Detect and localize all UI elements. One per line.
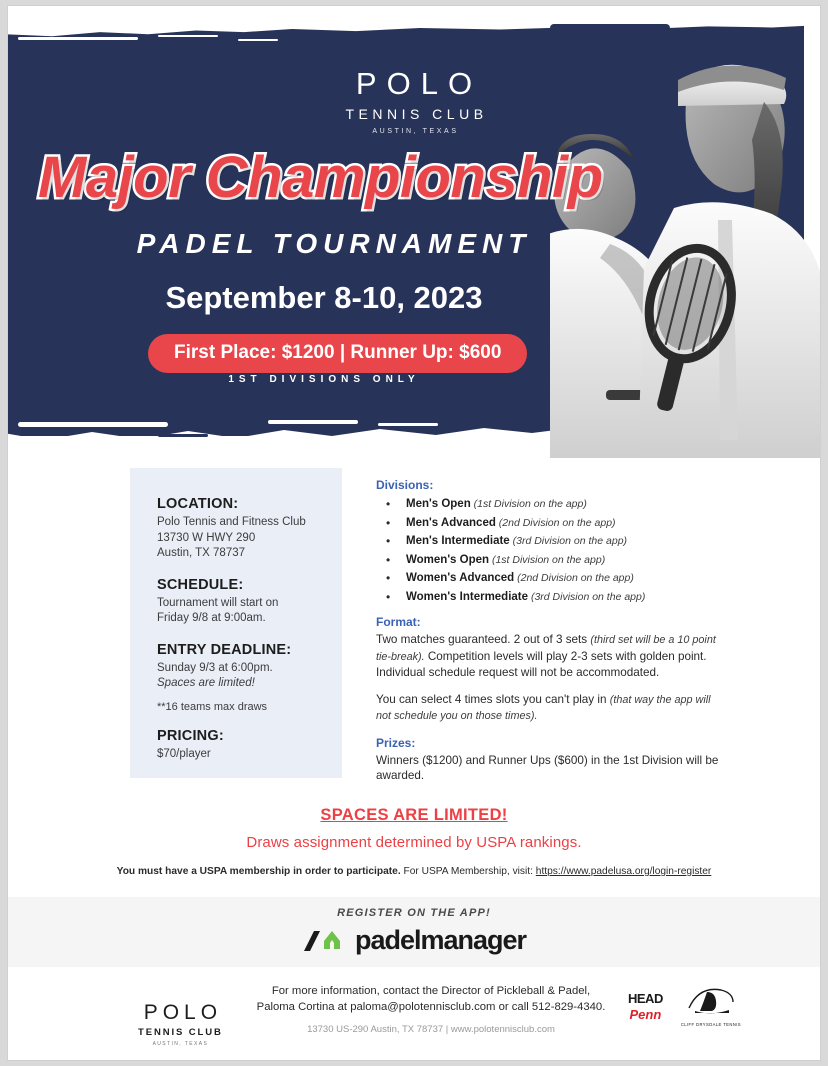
deadline-line-3: **16 teams max draws bbox=[157, 701, 342, 713]
brush-streak bbox=[378, 423, 438, 426]
format-heading: Format: bbox=[376, 615, 728, 629]
footer-logo-sub: TENNIS CLUB bbox=[138, 1027, 223, 1038]
format-paragraph-2: You can select 4 times slots you can't p… bbox=[376, 692, 728, 725]
division-note: (2nd Division on the app) bbox=[514, 572, 634, 584]
footer-club-logo: POLO TENNIS CLUB AUSTIN, TEXAS bbox=[138, 1002, 223, 1047]
hero-logo-city: AUSTIN, TEXAS bbox=[8, 128, 820, 135]
division-item: Women's Intermediate (3rd Division on th… bbox=[376, 588, 728, 607]
division-name: Women's Open bbox=[406, 554, 489, 566]
prizes-text: Winners ($1200) and Runner Ups ($600) in… bbox=[376, 753, 728, 784]
footer-logo-name: POLO bbox=[138, 1002, 223, 1023]
spaces-limited-heading: SPACES ARE LIMITED! bbox=[8, 806, 820, 825]
schedule-line-2: Friday 9/8 at 9:00am. bbox=[157, 611, 342, 627]
deadline-line-1: Sunday 9/3 at 6:00pm. bbox=[157, 661, 342, 677]
cliff-drysdale-caption: CLIFF DRYSDALE TENNIS bbox=[681, 1022, 741, 1027]
brush-streak bbox=[308, 416, 378, 419]
schedule-block: SCHEDULE: Tournament will start on Frida… bbox=[157, 577, 342, 627]
padelmanager-mark-icon bbox=[302, 927, 346, 955]
uspa-membership-link[interactable]: https://www.padelusa.org/login-register bbox=[536, 866, 712, 877]
division-name: Men's Open bbox=[406, 498, 471, 510]
prizes-heading: Prizes: bbox=[376, 736, 728, 750]
deadline-block: ENTRY DEADLINE: Sunday 9/3 at 6:00pm. Sp… bbox=[157, 642, 342, 713]
location-block: LOCATION: Polo Tennis and Fitness Club 1… bbox=[157, 496, 342, 562]
hero-club-logo: POLO TENNIS CLUB AUSTIN, TEXAS bbox=[8, 68, 820, 135]
location-heading: LOCATION: bbox=[157, 496, 342, 512]
division-note: (1st Division on the app) bbox=[471, 498, 587, 510]
division-name: Women's Advanced bbox=[406, 572, 514, 584]
brush-streak bbox=[158, 434, 208, 437]
deadline-heading: ENTRY DEADLINE: bbox=[157, 642, 342, 658]
membership-bold: You must have a USPA membership in order… bbox=[117, 866, 401, 877]
brush-streak bbox=[268, 420, 358, 424]
division-note: (1st Division on the app) bbox=[489, 554, 605, 566]
division-item: Men's Open (1st Division on the app) bbox=[376, 495, 728, 514]
draws-assignment-text: Draws assignment determined by USPA rank… bbox=[8, 834, 820, 851]
brush-streak bbox=[18, 422, 168, 427]
format-p1-a: Two matches guaranteed. 2 out of 3 sets bbox=[376, 633, 590, 646]
prize-badge: First Place: $1200 | Runner Up: $600 bbox=[148, 334, 527, 373]
divisions-note: 1ST DIVISIONS ONLY bbox=[8, 374, 820, 385]
footer-address: 13730 US-290 Austin, TX 78737 | www.polo… bbox=[236, 1024, 626, 1035]
flyer-page: POLO TENNIS CLUB AUSTIN, TEXAS Major Cha… bbox=[8, 6, 820, 1060]
divisions-heading: Divisions: bbox=[376, 478, 728, 492]
location-line-3: Austin, TX 78737 bbox=[157, 546, 342, 562]
hero-logo-name: POLO bbox=[8, 68, 820, 99]
contact-line-2: Paloma Cortina at paloma@polotennisclub.… bbox=[236, 999, 626, 1015]
padelmanager-logo[interactable]: padelmanager bbox=[8, 925, 820, 956]
page-footer: POLO TENNIS CLUB AUSTIN, TEXAS For more … bbox=[8, 974, 820, 1060]
app-registration-band: REGISTER ON THE APP! padelmanager bbox=[8, 897, 820, 967]
format-p1-b: Competition levels will play 2-3 sets wi… bbox=[376, 650, 707, 680]
footer-contact: For more information, contact the Direct… bbox=[236, 983, 626, 1035]
page-title: Major Championship bbox=[38, 144, 603, 211]
spacer bbox=[376, 606, 728, 615]
division-item: Men's Intermediate (3rd Division on the … bbox=[376, 532, 728, 551]
division-name: Women's Intermediate bbox=[406, 591, 528, 603]
deadline-line-2: Spaces are limited! bbox=[157, 676, 342, 692]
cliff-drysdale-mark-icon bbox=[685, 986, 737, 1016]
brush-streak bbox=[238, 39, 278, 41]
division-name: Men's Intermediate bbox=[406, 535, 510, 547]
brush-streak bbox=[22, 428, 112, 432]
division-note: (3rd Division on the app) bbox=[510, 535, 627, 547]
footer-logo-city: AUSTIN, TEXAS bbox=[138, 1041, 223, 1047]
event-date: September 8-10, 2023 bbox=[8, 280, 820, 316]
membership-rest: For USPA Membership, visit: bbox=[401, 866, 536, 877]
divisions-list: Men's Open (1st Division on the app)Men'… bbox=[376, 495, 728, 606]
page-subtitle: PADEL TOURNAMENT bbox=[8, 228, 820, 260]
brush-streak bbox=[18, 37, 138, 40]
division-note: (3rd Division on the app) bbox=[528, 591, 645, 603]
padelmanager-wordmark: padelmanager bbox=[355, 925, 526, 956]
division-item: Women's Open (1st Division on the app) bbox=[376, 551, 728, 570]
location-line-1: Polo Tennis and Fitness Club bbox=[157, 515, 342, 531]
cliff-drysdale-logo: CLIFF DRYSDALE TENNIS bbox=[681, 986, 741, 1027]
schedule-heading: SCHEDULE: bbox=[157, 577, 342, 593]
callout-section: SPACES ARE LIMITED! Draws assignment det… bbox=[8, 806, 820, 877]
schedule-line-1: Tournament will start on bbox=[157, 596, 342, 612]
format-p2-a: You can select 4 times slots you can't p… bbox=[376, 693, 610, 706]
pricing-line-1: $70/player bbox=[157, 747, 342, 763]
details-column: Divisions: Men's Open (1st Division on t… bbox=[376, 478, 728, 795]
hero-banner: POLO TENNIS CLUB AUSTIN, TEXAS Major Cha… bbox=[8, 6, 820, 458]
division-note: (2nd Division on the app) bbox=[496, 517, 616, 529]
pricing-heading: PRICING: bbox=[157, 728, 342, 744]
head-penn-logo: HEAD Penn bbox=[628, 991, 663, 1022]
format-paragraph-1: Two matches guaranteed. 2 out of 3 sets … bbox=[376, 632, 728, 681]
head-wordmark: HEAD bbox=[628, 991, 663, 1006]
brush-streak bbox=[158, 35, 218, 37]
sponsor-logos: HEAD Penn CLIFF DRYSDALE TENNIS bbox=[628, 986, 741, 1027]
contact-line-1: For more information, contact the Direct… bbox=[236, 983, 626, 999]
pricing-block: PRICING: $70/player bbox=[157, 728, 342, 763]
membership-requirement: You must have a USPA membership in order… bbox=[8, 866, 820, 877]
hero-logo-sub: TENNIS CLUB bbox=[8, 106, 820, 122]
division-item: Women's Advanced (2nd Division on the ap… bbox=[376, 569, 728, 588]
event-info-box: LOCATION: Polo Tennis and Fitness Club 1… bbox=[130, 468, 342, 778]
penn-wordmark: Penn bbox=[628, 1007, 663, 1022]
location-line-2: 13730 W HWY 290 bbox=[157, 531, 342, 547]
division-item: Men's Advanced (2nd Division on the app) bbox=[376, 514, 728, 533]
register-app-title: REGISTER ON THE APP! bbox=[8, 897, 820, 919]
division-name: Men's Advanced bbox=[406, 517, 496, 529]
